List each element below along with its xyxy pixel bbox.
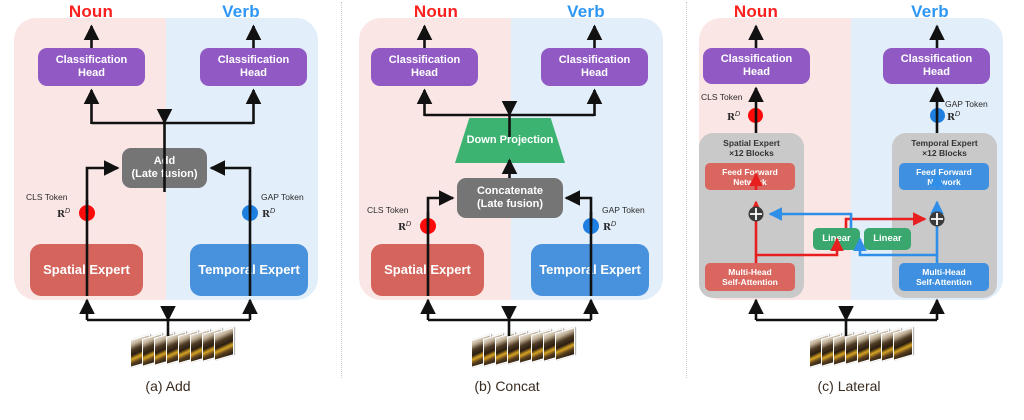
gap-dim-R-a: R <box>262 209 270 220</box>
cls-token-label-a: CLS Token <box>26 192 67 202</box>
linear-left-label: Linear <box>822 233 851 245</box>
gap-token-label-b: GAP Token <box>602 205 645 215</box>
mhsa-spatial-line1: Multi-Head <box>722 267 778 277</box>
cls-token-dot-b <box>420 218 436 234</box>
noun-label-c: Noun <box>711 2 801 22</box>
add-fusion-line1: Add <box>132 155 198 168</box>
ffn-spatial-text: Feed Forward Network <box>722 167 778 187</box>
down-projection-line2: Projection <box>500 134 554 146</box>
figure-root: Noun Verb Classification Head Classifica… <box>0 0 1024 420</box>
multi-head-self-attention-spatial-c[interactable]: Multi-Head Self-Attention <box>705 263 795 291</box>
feed-forward-network-temporal-c[interactable]: Feed Forward Network <box>899 163 989 190</box>
concat-fusion-line1: Concatenate <box>477 185 543 198</box>
cls-dim-R-a: R <box>57 209 65 220</box>
classification-head-verb-c-label: Classification Head <box>901 53 973 79</box>
cls-dim-R-c: R <box>727 112 735 123</box>
classification-head-noun-c[interactable]: Classification Head <box>703 48 810 84</box>
video-frame <box>893 327 913 361</box>
video-frames-c <box>809 331 919 367</box>
temporal-expert-title-line2: ×12 Blocks <box>922 148 967 158</box>
linear-left-c[interactable]: Linear <box>813 228 860 250</box>
classification-head-noun-b-label: Classification Head <box>389 54 461 80</box>
cls-dim-R-b: R <box>398 222 406 233</box>
cls-token-dim-b: RD <box>398 219 411 233</box>
down-projection-b[interactable]: Down Projection <box>455 118 565 163</box>
classification-head-verb-b[interactable]: Classification Head <box>541 48 648 86</box>
mhsa-temporal-text: Multi-Head Self-Attention <box>916 267 972 287</box>
caption-c: (c) Lateral <box>729 378 969 394</box>
temporal-expert-b-label: Temporal Expert <box>539 264 641 276</box>
temporal-expert-a[interactable]: Temporal Expert <box>190 244 308 296</box>
gap-dim-D-a: D <box>270 206 275 215</box>
caption-a: (a) Add <box>48 378 288 394</box>
cls-token-dot-c <box>748 108 763 123</box>
linear-right-label: Linear <box>873 233 902 245</box>
noun-label-a: Noun <box>46 2 136 22</box>
down-projection-line1: Down <box>467 134 497 146</box>
spatial-expert-b[interactable]: Spatial Expert <box>371 244 484 296</box>
panel-separator-2 <box>686 2 687 378</box>
gap-token-dim-c: RD <box>947 109 960 123</box>
ffn-temporal-line2: Network <box>916 177 972 187</box>
verb-label-c: Verb <box>885 2 975 22</box>
cls-token-dim-c: RD <box>727 109 740 123</box>
noun-label-b: Noun <box>391 2 481 22</box>
panel-add: Noun Verb Classification Head Classifica… <box>0 0 341 420</box>
panel-lateral: Noun Verb Classification Head Classifica… <box>689 0 1024 420</box>
temporal-expert-title-line1: Temporal Expert <box>911 138 977 148</box>
spatial-expert-a-label: Spatial Expert <box>43 264 130 276</box>
gap-dim-R-b: R <box>603 222 611 233</box>
spatial-expert-b-label: Spatial Expert <box>384 264 471 276</box>
spatial-expert-title-line2: ×12 Blocks <box>729 148 774 158</box>
verb-label-b: Verb <box>541 2 631 22</box>
cls-token-dim-a: RD <box>57 206 70 220</box>
add-fusion-block-a[interactable]: Add (Late fusion) <box>122 148 207 188</box>
spatial-expert-a[interactable]: Spatial Expert <box>30 244 143 296</box>
classification-head-verb-b-label: Classification Head <box>559 54 631 80</box>
mhsa-spatial-text: Multi-Head Self-Attention <box>722 267 778 287</box>
mhsa-spatial-line2: Self-Attention <box>722 277 778 287</box>
feed-forward-network-spatial-c[interactable]: Feed Forward Network <box>705 163 795 190</box>
classification-head-verb-a-label: Classification Head <box>218 54 290 80</box>
ffn-temporal-text: Feed Forward Network <box>916 167 972 187</box>
verb-label-a: Verb <box>196 2 286 22</box>
caption-b: (b) Concat <box>387 378 627 394</box>
gap-token-dim-b: RD <box>603 219 616 233</box>
gap-token-label-a: GAP Token <box>261 192 304 202</box>
gap-token-label-c: GAP Token <box>945 99 988 109</box>
linear-right-c[interactable]: Linear <box>864 228 911 250</box>
gap-token-dot-a <box>242 205 258 221</box>
temporal-expert-b[interactable]: Temporal Expert <box>531 244 649 296</box>
concat-fusion-block-b[interactable]: Concatenate (Late fusion) <box>457 178 563 218</box>
spatial-expert-title-c: Spatial Expert ×12 Blocks <box>699 138 804 158</box>
gap-token-dot-b <box>583 218 599 234</box>
mhsa-temporal-line1: Multi-Head <box>916 267 972 277</box>
cls-dim-D-a: D <box>65 206 70 215</box>
concat-fusion-text: Concatenate (Late fusion) <box>477 185 543 211</box>
classification-head-noun-a[interactable]: Classification Head <box>38 48 145 86</box>
video-frame <box>555 327 575 361</box>
video-frames-b <box>471 331 581 367</box>
cls-dim-D-b: D <box>406 219 411 228</box>
panel-separator-1 <box>341 2 342 378</box>
ffn-spatial-line2: Network <box>722 177 778 187</box>
concat-fusion-line2: (Late fusion) <box>477 198 543 211</box>
ffn-temporal-line1: Feed Forward <box>916 167 972 177</box>
video-frame <box>214 327 234 361</box>
add-fusion-text: Add (Late fusion) <box>132 155 198 181</box>
classification-head-noun-a-label: Classification Head <box>56 54 128 80</box>
video-frames-a <box>130 331 240 367</box>
gap-dim-R-c: R <box>947 112 955 123</box>
multi-head-self-attention-temporal-c[interactable]: Multi-Head Self-Attention <box>899 263 989 291</box>
temporal-expert-a-label: Temporal Expert <box>198 264 300 276</box>
cls-token-label-b: CLS Token <box>367 205 408 215</box>
classification-head-noun-b[interactable]: Classification Head <box>371 48 478 86</box>
gap-dim-D-b: D <box>611 219 616 228</box>
cls-token-dot-a <box>79 205 95 221</box>
temporal-expert-title-c: Temporal Expert ×12 Blocks <box>892 138 997 158</box>
gap-token-dim-a: RD <box>262 206 275 220</box>
add-fusion-line2: (Late fusion) <box>132 168 198 181</box>
cls-dim-D-c: D <box>735 109 740 118</box>
cls-token-label-c: CLS Token <box>701 92 742 102</box>
spatial-expert-title-line1: Spatial Expert <box>723 138 780 148</box>
classification-head-verb-c[interactable]: Classification Head <box>883 48 990 84</box>
classification-head-verb-a[interactable]: Classification Head <box>200 48 307 86</box>
gap-dim-D-c: D <box>955 109 960 118</box>
mhsa-temporal-line2: Self-Attention <box>916 277 972 287</box>
down-projection-text: Down Projection <box>467 134 554 147</box>
gap-token-dot-c <box>930 108 945 123</box>
panel-concat: Noun Verb Classification Head Classifica… <box>345 0 685 420</box>
ffn-spatial-line1: Feed Forward <box>722 167 778 177</box>
classification-head-noun-c-label: Classification Head <box>721 53 793 79</box>
